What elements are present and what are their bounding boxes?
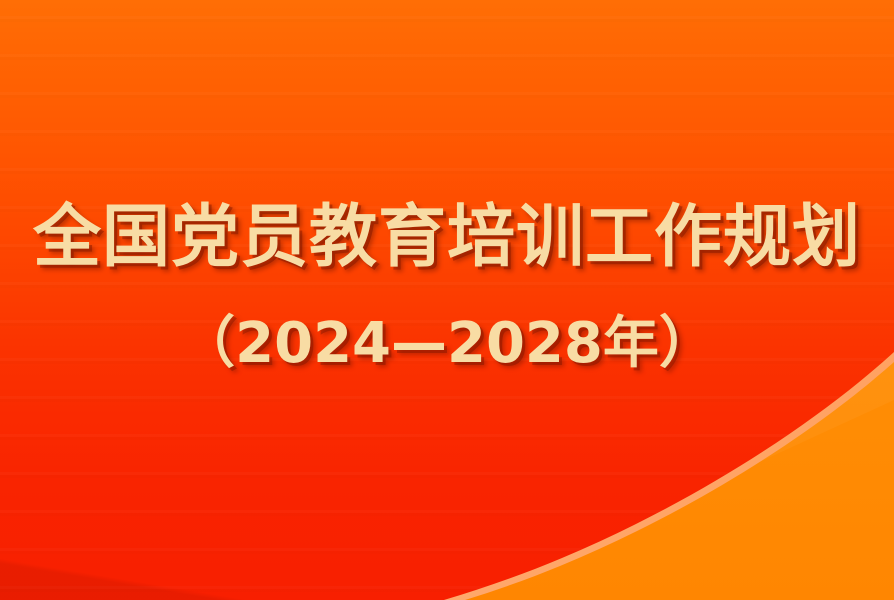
page-title: 全国党员教育培训工作规划	[0, 199, 894, 277]
headline-block: 全国党员教育培训工作规划 （2024—2028年）	[0, 0, 894, 600]
page-subtitle-year-range: （2024—2028年）	[0, 309, 894, 379]
poster-canvas: 全国党员教育培训工作规划 （2024—2028年）	[0, 0, 894, 600]
